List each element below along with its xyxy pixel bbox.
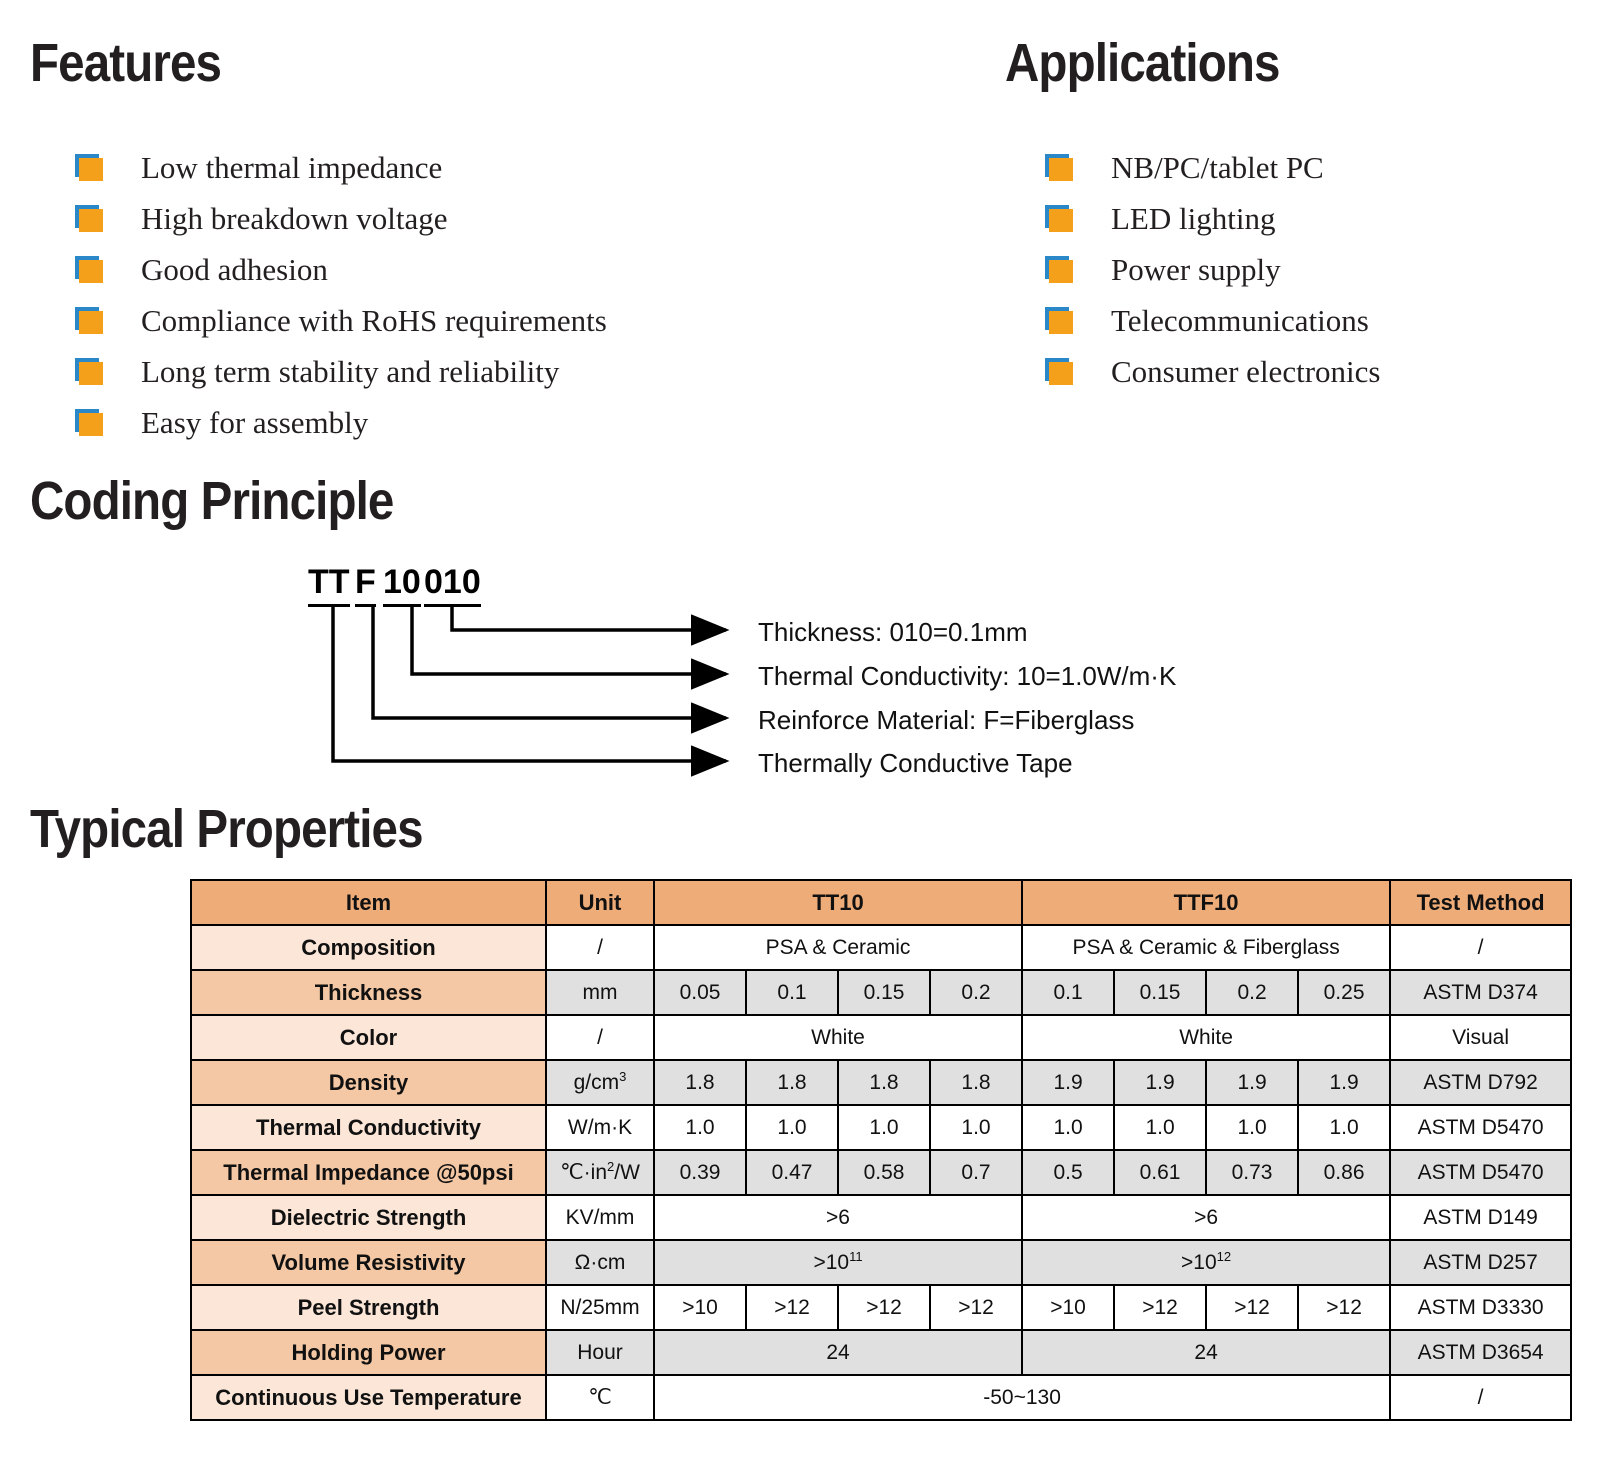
square-bullet-icon [1045, 154, 1075, 182]
features-list: Low thermal impedance High breakdown vol… [75, 142, 607, 448]
col-header-unit: Unit [546, 880, 654, 925]
square-bullet-icon [75, 154, 105, 182]
value-test-method: ASTM D5470 [1390, 1150, 1571, 1195]
value-test-method: / [1390, 925, 1571, 970]
row-unit: / [546, 925, 654, 970]
row-label: Thermal Conductivity [191, 1105, 546, 1150]
unit-base: g/cm [574, 1071, 620, 1094]
value-test-method: ASTM D3330 [1390, 1285, 1571, 1330]
value-ttf10: >12 [1298, 1285, 1390, 1330]
value-ttf10: 0.73 [1206, 1150, 1298, 1195]
square-bullet-icon [75, 307, 105, 335]
feature-label: Good adhesion [141, 254, 328, 285]
value-tt10: 1.0 [838, 1105, 930, 1150]
row-unit: Hour [546, 1330, 654, 1375]
col-header-tt10: TT10 [654, 880, 1022, 925]
features-title: Features [30, 32, 538, 94]
value-tt10: 0.05 [654, 970, 746, 1015]
value-ttf10: White [1022, 1015, 1390, 1060]
square-bullet-icon [75, 409, 105, 437]
table-row: Continuous Use Temperature ℃ -50~130 / [191, 1375, 1571, 1420]
value-tt10: White [654, 1015, 1022, 1060]
col-header-ttf10: TTF10 [1022, 880, 1390, 925]
applications-title: Applications [1005, 32, 1335, 94]
row-unit: N/25mm [546, 1285, 654, 1330]
value-tt10: 1.8 [746, 1060, 838, 1105]
table-header-row: Item Unit TT10 TTF10 Test Method [191, 880, 1571, 925]
unit-exponent: 3 [619, 1069, 626, 1084]
features-section: Features Low thermal impedance High brea… [30, 32, 607, 448]
square-bullet-icon [1045, 307, 1075, 335]
row-unit: W/m·K [546, 1105, 654, 1150]
value-tt10: 0.2 [930, 970, 1022, 1015]
square-bullet-icon [1045, 205, 1075, 233]
value-test-method: ASTM D792 [1390, 1060, 1571, 1105]
value-ttf10: 0.15 [1114, 970, 1206, 1015]
applications-list: NB/PC/tablet PC LED lighting Power suppl… [1045, 142, 1380, 397]
value-tt10: 0.39 [654, 1150, 746, 1195]
value-ttf10: >10 [1022, 1285, 1114, 1330]
list-item: Easy for assembly [75, 397, 607, 448]
value-test-method: / [1390, 1375, 1571, 1420]
square-bullet-icon [1045, 256, 1075, 284]
application-label: NB/PC/tablet PC [1111, 152, 1324, 183]
value-tt10: 0.47 [746, 1150, 838, 1195]
value-base: >10 [813, 1251, 849, 1274]
value-ttf10: 0.25 [1298, 970, 1390, 1015]
value-tt10: 0.15 [838, 970, 930, 1015]
value-tt10: 1.8 [654, 1060, 746, 1105]
value-ttf10: >1012 [1022, 1240, 1390, 1285]
value-tt10: 24 [654, 1330, 1022, 1375]
table-row: Dielectric Strength KV/mm >6 >6 ASTM D14… [191, 1195, 1571, 1240]
unit-tail: /W [614, 1161, 640, 1184]
value-ttf10: 0.5 [1022, 1150, 1114, 1195]
value-ttf10: >12 [1206, 1285, 1298, 1330]
value-tt10: 1.0 [930, 1105, 1022, 1150]
row-unit: KV/mm [546, 1195, 654, 1240]
value-tt10: >6 [654, 1195, 1022, 1240]
value-tt10: 1.8 [838, 1060, 930, 1105]
value-test-method: ASTM D257 [1390, 1240, 1571, 1285]
value-tt10: >10 [654, 1285, 746, 1330]
row-label: Holding Power [191, 1330, 546, 1375]
value-ttf10: 1.0 [1298, 1105, 1390, 1150]
list-item: High breakdown voltage [75, 193, 607, 244]
value-tt10: 0.7 [930, 1150, 1022, 1195]
value-tt10: >1011 [654, 1240, 1022, 1285]
application-label: LED lighting [1111, 203, 1275, 234]
value-ttf10: 0.2 [1206, 970, 1298, 1015]
value-tt10: 0.58 [838, 1150, 930, 1195]
table-row: Volume Resistivity Ω·cm >1011 >1012 ASTM… [191, 1240, 1571, 1285]
list-item: LED lighting [1045, 193, 1380, 244]
value-test-method: ASTM D149 [1390, 1195, 1571, 1240]
value-tt10: 0.1 [746, 970, 838, 1015]
typical-properties-table: Item Unit TT10 TTF10 Test Method Composi… [190, 879, 1572, 1421]
value-exponent: 12 [1217, 1249, 1231, 1264]
list-item: Good adhesion [75, 244, 607, 295]
row-label: Color [191, 1015, 546, 1060]
value-ttf10: 1.9 [1022, 1060, 1114, 1105]
value-ttf10: 0.86 [1298, 1150, 1390, 1195]
row-label: Composition [191, 925, 546, 970]
row-unit: / [546, 1015, 654, 1060]
table-row: Peel Strength N/25mm >10 >12 >12 >12 >10… [191, 1285, 1571, 1330]
annotation-tape-type: Thermally Conductive Tape [758, 748, 1073, 779]
list-item: NB/PC/tablet PC [1045, 142, 1380, 193]
unit-base: ℃·in [560, 1161, 607, 1184]
list-item: Telecommunications [1045, 295, 1380, 346]
annotation-thickness: Thickness: 010=0.1mm [758, 617, 1028, 648]
value-exponent: 11 [849, 1249, 863, 1264]
row-unit: ℃ [546, 1375, 654, 1420]
value-ttf10: >6 [1022, 1195, 1390, 1240]
value-test-method: ASTM D5470 [1390, 1105, 1571, 1150]
coding-principle-diagram: TT F 10 010 Thickness: 010=0.1mm Thermal… [0, 545, 1600, 795]
list-item: Long term stability and reliability [75, 346, 607, 397]
application-label: Telecommunications [1111, 305, 1369, 336]
value-test-method: Visual [1390, 1015, 1571, 1060]
application-label: Consumer electronics [1111, 356, 1380, 387]
value-ttf10: 1.9 [1298, 1060, 1390, 1105]
table-row: Color / White White Visual [191, 1015, 1571, 1060]
square-bullet-icon [75, 256, 105, 284]
row-label: Thermal Impedance @50psi [191, 1150, 546, 1195]
table-row: Thickness mm 0.05 0.1 0.15 0.2 0.1 0.15 … [191, 970, 1571, 1015]
list-item: Consumer electronics [1045, 346, 1380, 397]
value-tt10: 1.8 [930, 1060, 1022, 1105]
value-ttf10: 0.61 [1114, 1150, 1206, 1195]
row-unit: Ω·cm [546, 1240, 654, 1285]
value-base: >10 [1181, 1251, 1217, 1274]
feature-label: Low thermal impedance [141, 152, 442, 183]
coding-principle-title: Coding Principle [30, 470, 393, 532]
value-combined: -50~130 [654, 1375, 1390, 1420]
value-ttf10: 1.9 [1206, 1060, 1298, 1105]
value-ttf10: 24 [1022, 1330, 1390, 1375]
row-label: Continuous Use Temperature [191, 1375, 546, 1420]
row-unit: ℃·in2/W [546, 1150, 654, 1195]
table-row: Density g/cm3 1.8 1.8 1.8 1.8 1.9 1.9 1.… [191, 1060, 1571, 1105]
list-item: Power supply [1045, 244, 1380, 295]
application-label: Power supply [1111, 254, 1281, 285]
row-label: Density [191, 1060, 546, 1105]
table-row: Thermal Impedance @50psi ℃·in2/W 0.39 0.… [191, 1150, 1571, 1195]
value-test-method: ASTM D374 [1390, 970, 1571, 1015]
value-ttf10: >12 [1114, 1285, 1206, 1330]
table-row: Composition / PSA & Ceramic PSA & Cerami… [191, 925, 1571, 970]
col-header-test-method: Test Method [1390, 880, 1571, 925]
value-ttf10: 1.0 [1114, 1105, 1206, 1150]
square-bullet-icon [75, 358, 105, 386]
feature-label: High breakdown voltage [141, 203, 447, 234]
square-bullet-icon [75, 205, 105, 233]
value-tt10: >12 [930, 1285, 1022, 1330]
row-label: Thickness [191, 970, 546, 1015]
list-item: Low thermal impedance [75, 142, 607, 193]
value-tt10: 1.0 [654, 1105, 746, 1150]
value-tt10: PSA & Ceramic [654, 925, 1022, 970]
annotation-thermal-conductivity: Thermal Conductivity: 10=1.0W/m·K [758, 661, 1176, 692]
applications-section: Applications NB/PC/tablet PC LED lightin… [1005, 32, 1380, 397]
feature-label: Compliance with RoHS requirements [141, 305, 607, 336]
value-ttf10: 1.0 [1022, 1105, 1114, 1150]
row-label: Peel Strength [191, 1285, 546, 1330]
feature-label: Easy for assembly [141, 407, 368, 438]
row-unit: mm [546, 970, 654, 1015]
value-ttf10: 0.1 [1022, 970, 1114, 1015]
square-bullet-icon [1045, 358, 1075, 386]
typical-properties-title: Typical Properties [30, 798, 423, 860]
value-tt10: >12 [746, 1285, 838, 1330]
col-header-item: Item [191, 880, 546, 925]
value-ttf10: 1.0 [1206, 1105, 1298, 1150]
value-ttf10: PSA & Ceramic & Fiberglass [1022, 925, 1390, 970]
value-tt10: 1.0 [746, 1105, 838, 1150]
row-label: Dielectric Strength [191, 1195, 546, 1240]
table-row: Thermal Conductivity W/m·K 1.0 1.0 1.0 1… [191, 1105, 1571, 1150]
value-tt10: >12 [838, 1285, 930, 1330]
row-label: Volume Resistivity [191, 1240, 546, 1285]
feature-label: Long term stability and reliability [141, 356, 559, 387]
annotation-reinforce-material: Reinforce Material: F=Fiberglass [758, 705, 1134, 736]
value-test-method: ASTM D3654 [1390, 1330, 1571, 1375]
row-unit: g/cm3 [546, 1060, 654, 1105]
value-ttf10: 1.9 [1114, 1060, 1206, 1105]
list-item: Compliance with RoHS requirements [75, 295, 607, 346]
table-row: Holding Power Hour 24 24 ASTM D3654 [191, 1330, 1571, 1375]
